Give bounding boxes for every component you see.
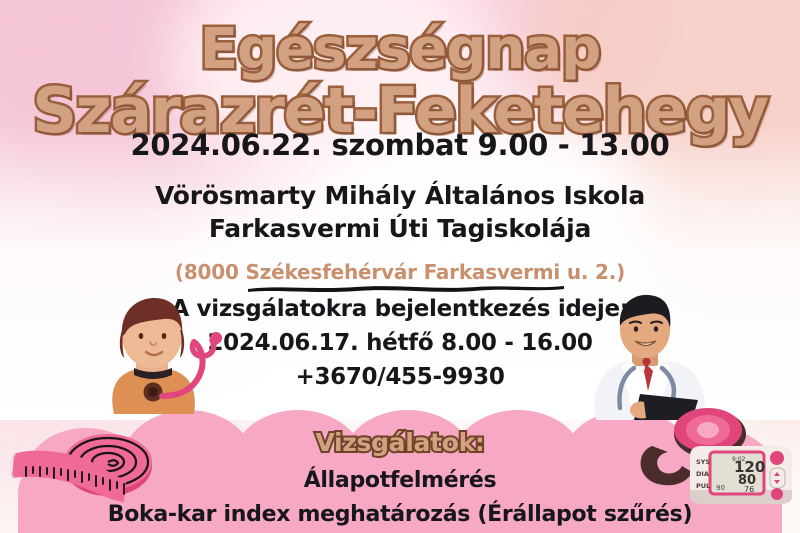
title-line-1: Egészségnap — [0, 22, 800, 78]
monitor-pul-label: PUL — [696, 482, 710, 490]
venue-name: Vörösmarty Mihály Általános Iskola Farka… — [0, 179, 800, 245]
event-info: 2024.06.22. szombat 9.00 - 13.00 Vörösma… — [0, 128, 800, 284]
venue-line-1: Vörösmarty Mihály Általános Iskola — [0, 179, 800, 212]
monitor-dia-label: DIA — [696, 470, 709, 478]
monitor-sys-label: SYS — [696, 458, 710, 466]
brush-divider-icon — [246, 283, 566, 292]
venue-line-2: Farkasvermi Úti Tagiskolája — [0, 212, 800, 245]
doctor-illustration — [572, 290, 722, 420]
measuring-tape-illustration — [0, 416, 156, 528]
event-date: 2024.06.22. szombat 9.00 - 13.00 — [0, 128, 800, 162]
monitor-cuff-value: 90 — [716, 484, 725, 492]
woman-illustration — [78, 292, 228, 414]
poster-title: Egészségnap Szárazrét-Feketehegy — [0, 22, 800, 142]
blood-pressure-monitor-illustration: 9:02 SYS DIA PUL 120 80 76 90 — [634, 404, 800, 516]
monitor-pul-value: 76 — [744, 485, 754, 494]
health-day-poster: Egészségnap Szárazrét-Feketehegy 2024.06… — [0, 0, 800, 533]
venue-address: (8000 Székesfehérvár Farkasvermi u. 2.) — [0, 260, 800, 284]
